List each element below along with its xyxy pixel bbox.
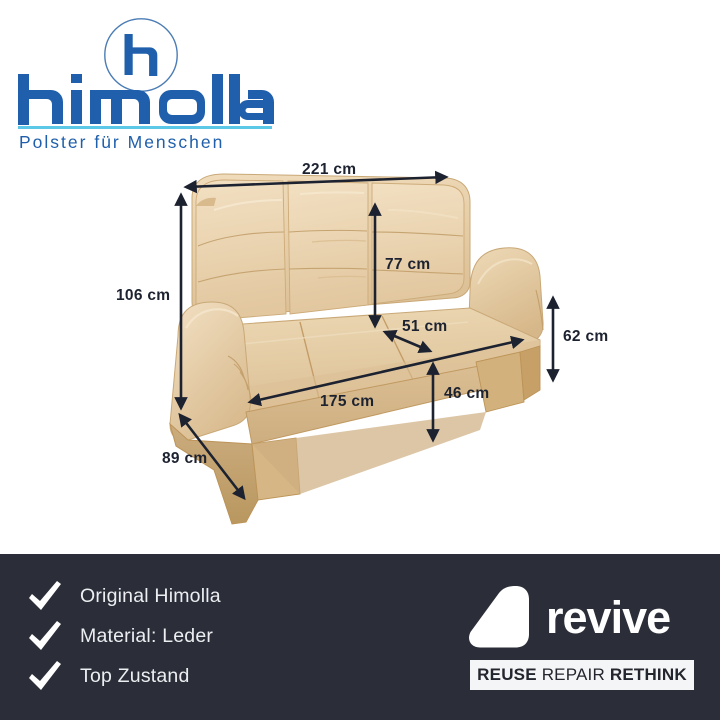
dimension-overlay xyxy=(0,150,720,554)
dim-label-total-height: 106 cm xyxy=(116,287,170,305)
claim-part-rethink: RETHINK xyxy=(610,665,687,684)
check-icon xyxy=(26,579,64,613)
check-icon xyxy=(26,619,64,653)
product-illustration-area: 221 cm 106 cm 77 cm 51 cm 62 cm 46 cm 17… xyxy=(0,150,720,554)
dim-label-backrest-height: 77 cm xyxy=(385,256,430,274)
himolla-logo-divider xyxy=(18,126,272,129)
feature-item-original: Original Himolla xyxy=(26,576,356,616)
dim-label-total-width: 221 cm xyxy=(302,161,356,179)
feature-label: Material: Leder xyxy=(80,625,213,648)
product-image-canvas: Polster für Menschen xyxy=(0,0,720,720)
feature-label: Top Zustand xyxy=(80,665,190,688)
revive-claim-badge: REUSE REPAIR RETHINK xyxy=(470,660,694,690)
check-icon xyxy=(26,659,64,693)
claim-part-repair: REPAIR xyxy=(542,665,605,684)
dim-label-seat-depth: 51 cm xyxy=(402,318,447,336)
revive-logo: revive REUSE REPAIR RETHINK xyxy=(462,584,694,692)
himolla-brand-logo: Polster für Menschen xyxy=(16,14,288,150)
feature-label: Original Himolla xyxy=(80,585,221,608)
dim-label-armrest-height: 62 cm xyxy=(563,328,608,346)
feature-item-material: Material: Leder xyxy=(26,616,356,656)
dim-label-seat-height: 46 cm xyxy=(444,385,489,403)
feature-list: Original Himolla Material: Leder Top Zus… xyxy=(26,576,356,696)
info-bar: Original Himolla Material: Leder Top Zus… xyxy=(0,554,720,720)
dim-label-seat-width: 175 cm xyxy=(320,393,374,411)
revive-leaf-blob-icon xyxy=(466,584,538,650)
dim-label-total-depth: 89 cm xyxy=(162,450,207,468)
revive-claim-text: REUSE REPAIR RETHINK xyxy=(477,665,687,685)
claim-part-reuse: REUSE xyxy=(477,665,537,684)
revive-wordmark: revive xyxy=(546,592,670,644)
feature-item-condition: Top Zustand xyxy=(26,656,356,696)
himolla-wordmark xyxy=(16,72,274,126)
